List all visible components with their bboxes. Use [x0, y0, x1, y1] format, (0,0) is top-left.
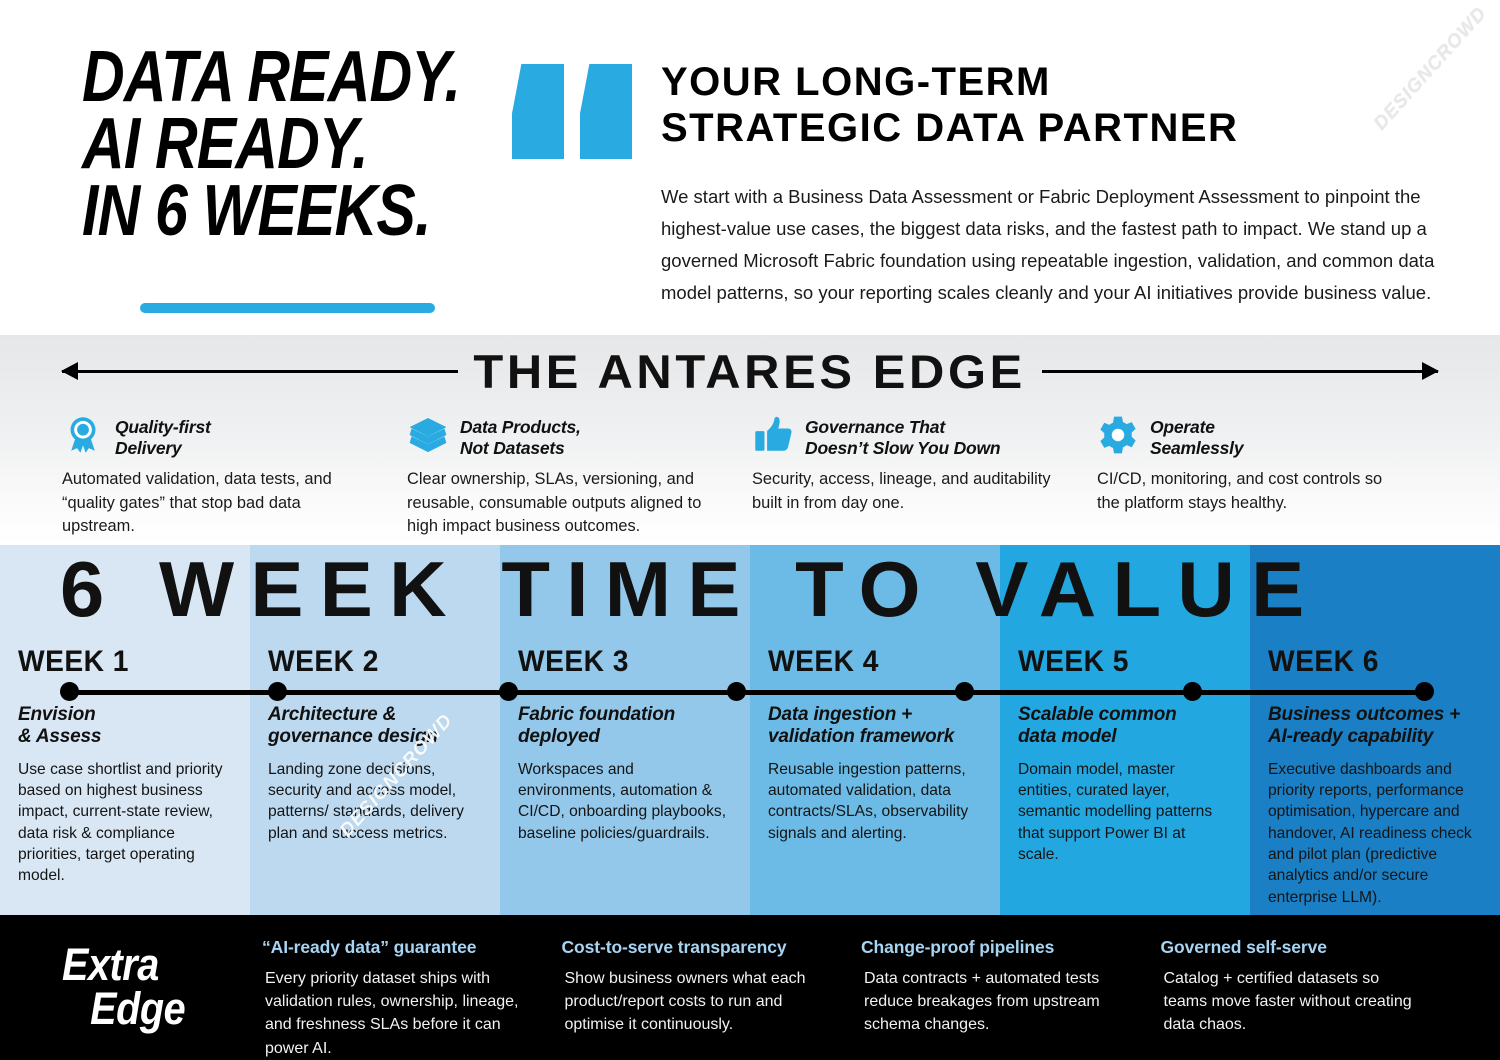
headline-line-1: DATA READY.: [82, 44, 425, 111]
award-ribbon-icon: [62, 413, 104, 457]
edge-item-title-line-2: Not Datasets: [460, 438, 581, 459]
antares-edge-title: THE ANTARES EDGE: [447, 344, 1054, 399]
week-title: Architecture & governance design: [268, 704, 478, 748]
edge-item-head: Quality-first Delivery: [62, 415, 371, 459]
edge-item: Governance That Doesn’t Slow You Down Se…: [752, 415, 1097, 538]
antares-edge-items: Quality-first Delivery Automated validat…: [0, 399, 1500, 538]
headline-column: DATA READY. AI READY. IN 6 WEEKS.: [0, 0, 500, 335]
thumbs-up-icon: [752, 413, 794, 457]
edge-item-title: Quality-first Delivery: [115, 415, 211, 459]
edge-item-desc: Security, access, lineage, and auditabil…: [752, 468, 1061, 515]
timeline-column-week-1: WEEK 1 Envision & Assess Use case shortl…: [0, 633, 250, 915]
week-title-line-2: validation framework: [768, 726, 978, 748]
week-label: WEEK 4: [768, 647, 965, 677]
extra-edge-item-title: Cost-to-serve transparency: [562, 937, 824, 958]
edge-item: Data Products, Not Datasets Clear owners…: [407, 415, 752, 538]
antares-edge-title-row: THE ANTARES EDGE: [0, 343, 1500, 399]
extra-edge-item: Change-proof pipelines Data contracts + …: [861, 937, 1161, 1060]
quote-title-line-2: STRATEGIC DATA PARTNER: [661, 106, 1438, 152]
timeline-column-week-3: WEEK 3 Fabric foundation deployed Worksp…: [500, 633, 750, 915]
extra-edge-item-desc: Every priority dataset ships with valida…: [262, 967, 524, 1060]
edge-item-title: Operate Seamlessly: [1150, 415, 1243, 459]
week-title: Data ingestion + validation framework: [768, 704, 978, 748]
week-title-line-2: AI-ready capability: [1268, 726, 1478, 748]
edge-item-title-line-1: Governance That: [805, 417, 1000, 438]
layers-stack-icon: [407, 413, 449, 457]
week-desc: Use case shortlist and priority based on…: [18, 759, 228, 887]
week-desc: Workspaces and environments, automation …: [518, 759, 728, 844]
week-title-line-1: Envision: [18, 704, 228, 726]
week-desc: Landing zone decisions, security and acc…: [268, 759, 478, 844]
timeline-column-week-5: WEEK 5 Scalable common data model Domain…: [1000, 633, 1250, 915]
quote-title: YOUR LONG-TERM STRATEGIC DATA PARTNER: [661, 60, 1438, 151]
week-desc: Executive dashboards and priority report…: [1268, 759, 1478, 909]
week-title-line-2: & Assess: [18, 726, 228, 748]
edge-item-title-line-1: Operate: [1150, 417, 1243, 438]
arrow-left-icon: [62, 370, 458, 373]
headline-accent-underline: [140, 303, 435, 313]
quote-mark-icon: [512, 64, 637, 159]
week-title: Business outcomes + AI-ready capability: [1268, 704, 1478, 748]
week-title: Fabric foundation deployed: [518, 704, 728, 748]
week-label: WEEK 3: [518, 647, 715, 677]
extra-edge-item: “AI-ready data” guarantee Every priority…: [262, 937, 562, 1060]
week-title-line-1: Data ingestion +: [768, 704, 978, 726]
edge-item-title-line-2: Seamlessly: [1150, 438, 1243, 459]
extra-edge-item-title: “AI-ready data” guarantee: [262, 937, 524, 958]
timeline-title: 6 WEEK TIME TO VALUE: [60, 550, 1321, 628]
edge-item-title-line-2: Doesn’t Slow You Down: [805, 438, 1000, 459]
quote-title-line-1: YOUR LONG-TERM: [661, 60, 1438, 106]
extra-edge-logo-line-2: Edge: [62, 987, 238, 1031]
timeline-column-week-6: WEEK 6 Business outcomes + AI-ready capa…: [1250, 633, 1500, 915]
antares-edge-section: THE ANTARES EDGE Quality-first Delivery …: [0, 335, 1500, 545]
edge-item-head: Data Products, Not Datasets: [407, 415, 716, 459]
week-title-line-1: Architecture &: [268, 704, 478, 726]
extra-edge-item-title: Governed self-serve: [1161, 937, 1423, 958]
extra-edge-item-desc: Data contracts + automated tests reduce …: [861, 967, 1123, 1037]
extra-edge-section: Extra Edge “AI-ready data” guarantee Eve…: [0, 915, 1500, 1060]
arrow-right-icon: [1042, 370, 1438, 373]
edge-item-title-line-1: Quality-first: [115, 417, 211, 438]
week-desc: Reusable ingestion patterns, automated v…: [768, 759, 978, 844]
week-title-line-1: Business outcomes +: [1268, 704, 1478, 726]
page-title: DATA READY. AI READY. IN 6 WEEKS.: [82, 44, 425, 245]
edge-item-title-line-2: Delivery: [115, 438, 211, 459]
week-title-line-2: governance design: [268, 726, 478, 748]
quote-body: YOUR LONG-TERM STRATEGIC DATA PARTNER We…: [661, 60, 1438, 335]
edge-item-title-line-1: Data Products,: [460, 417, 581, 438]
headline-line-3: IN 6 WEEKS.: [82, 178, 425, 245]
header-section: DATA READY. AI READY. IN 6 WEEKS. YOUR L…: [0, 0, 1500, 335]
edge-item: Quality-first Delivery Automated validat…: [62, 415, 407, 538]
timeline-title-row: 6 WEEK TIME TO VALUE: [0, 545, 1500, 633]
timeline-column-week-2: WEEK 2 Architecture & governance design …: [250, 633, 500, 915]
week-title: Scalable common data model: [1018, 704, 1228, 748]
extra-edge-item-title: Change-proof pipelines: [861, 937, 1123, 958]
week-desc: Domain model, master entities, curated l…: [1018, 759, 1228, 866]
edge-item-title: Data Products, Not Datasets: [460, 415, 581, 459]
extra-edge-items: “AI-ready data” guarantee Every priority…: [262, 937, 1460, 1060]
edge-item-desc: CI/CD, monitoring, and cost controls so …: [1097, 468, 1406, 515]
gear-icon: [1097, 413, 1139, 457]
quote-column: YOUR LONG-TERM STRATEGIC DATA PARTNER We…: [500, 0, 1500, 335]
week-label: WEEK 6: [1268, 647, 1465, 677]
intro-paragraph: We start with a Business Data Assessment…: [661, 181, 1438, 308]
headline-line-2: AI READY.: [82, 111, 425, 178]
week-title-line-1: Scalable common: [1018, 704, 1228, 726]
edge-item-head: Operate Seamlessly: [1097, 415, 1406, 459]
week-label: WEEK 5: [1018, 647, 1215, 677]
week-label: WEEK 1: [18, 647, 215, 677]
edge-item-desc: Automated validation, data tests, and “q…: [62, 468, 371, 538]
timeline-section: 6 WEEK TIME TO VALUE WEEK 1 Envision & A…: [0, 545, 1500, 915]
extra-edge-item: Cost-to-serve transparency Show business…: [562, 937, 862, 1060]
week-title: Envision & Assess: [18, 704, 228, 748]
week-title-line-2: deployed: [518, 726, 728, 748]
edge-item-head: Governance That Doesn’t Slow You Down: [752, 415, 1061, 459]
extra-edge-item-desc: Show business owners what each product/r…: [562, 967, 824, 1037]
timeline-columns: WEEK 1 Envision & Assess Use case shortl…: [0, 633, 1500, 915]
week-label: WEEK 2: [268, 647, 465, 677]
week-title-line-2: data model: [1018, 726, 1228, 748]
timeline-column-week-4: WEEK 4 Data ingestion + validation frame…: [750, 633, 1000, 915]
edge-item-title: Governance That Doesn’t Slow You Down: [805, 415, 1000, 459]
extra-edge-logo: Extra Edge: [62, 937, 262, 1060]
edge-item: Operate Seamlessly CI/CD, monitoring, an…: [1097, 415, 1442, 538]
extra-edge-item: Governed self-serve Catalog + certified …: [1161, 937, 1461, 1060]
week-title-line-1: Fabric foundation: [518, 704, 728, 726]
extra-edge-item-desc: Catalog + certified datasets so teams mo…: [1161, 967, 1423, 1037]
edge-item-desc: Clear ownership, SLAs, versioning, and r…: [407, 468, 716, 538]
extra-edge-logo-line-1: Extra: [62, 943, 238, 987]
